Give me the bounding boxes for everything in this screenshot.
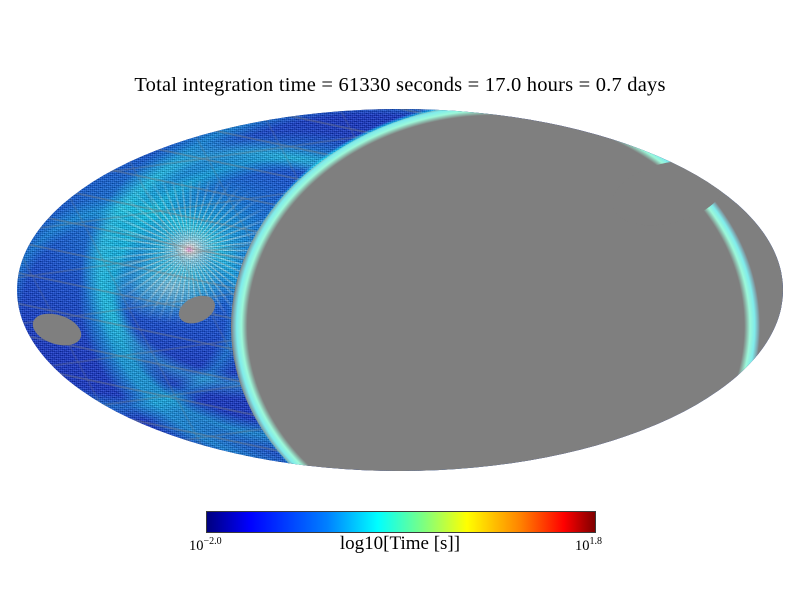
sky-map-figure: Total integration time = 61330 seconds =… — [0, 0, 800, 600]
colorbar-title: log10[Time [s]] — [0, 533, 800, 555]
map-projection-clip — [17, 109, 783, 471]
colorbar — [206, 511, 596, 533]
mollweide-map — [17, 109, 783, 471]
figure-title: Total integration time = 61330 seconds =… — [0, 74, 800, 97]
colorbar-gradient — [206, 511, 596, 533]
